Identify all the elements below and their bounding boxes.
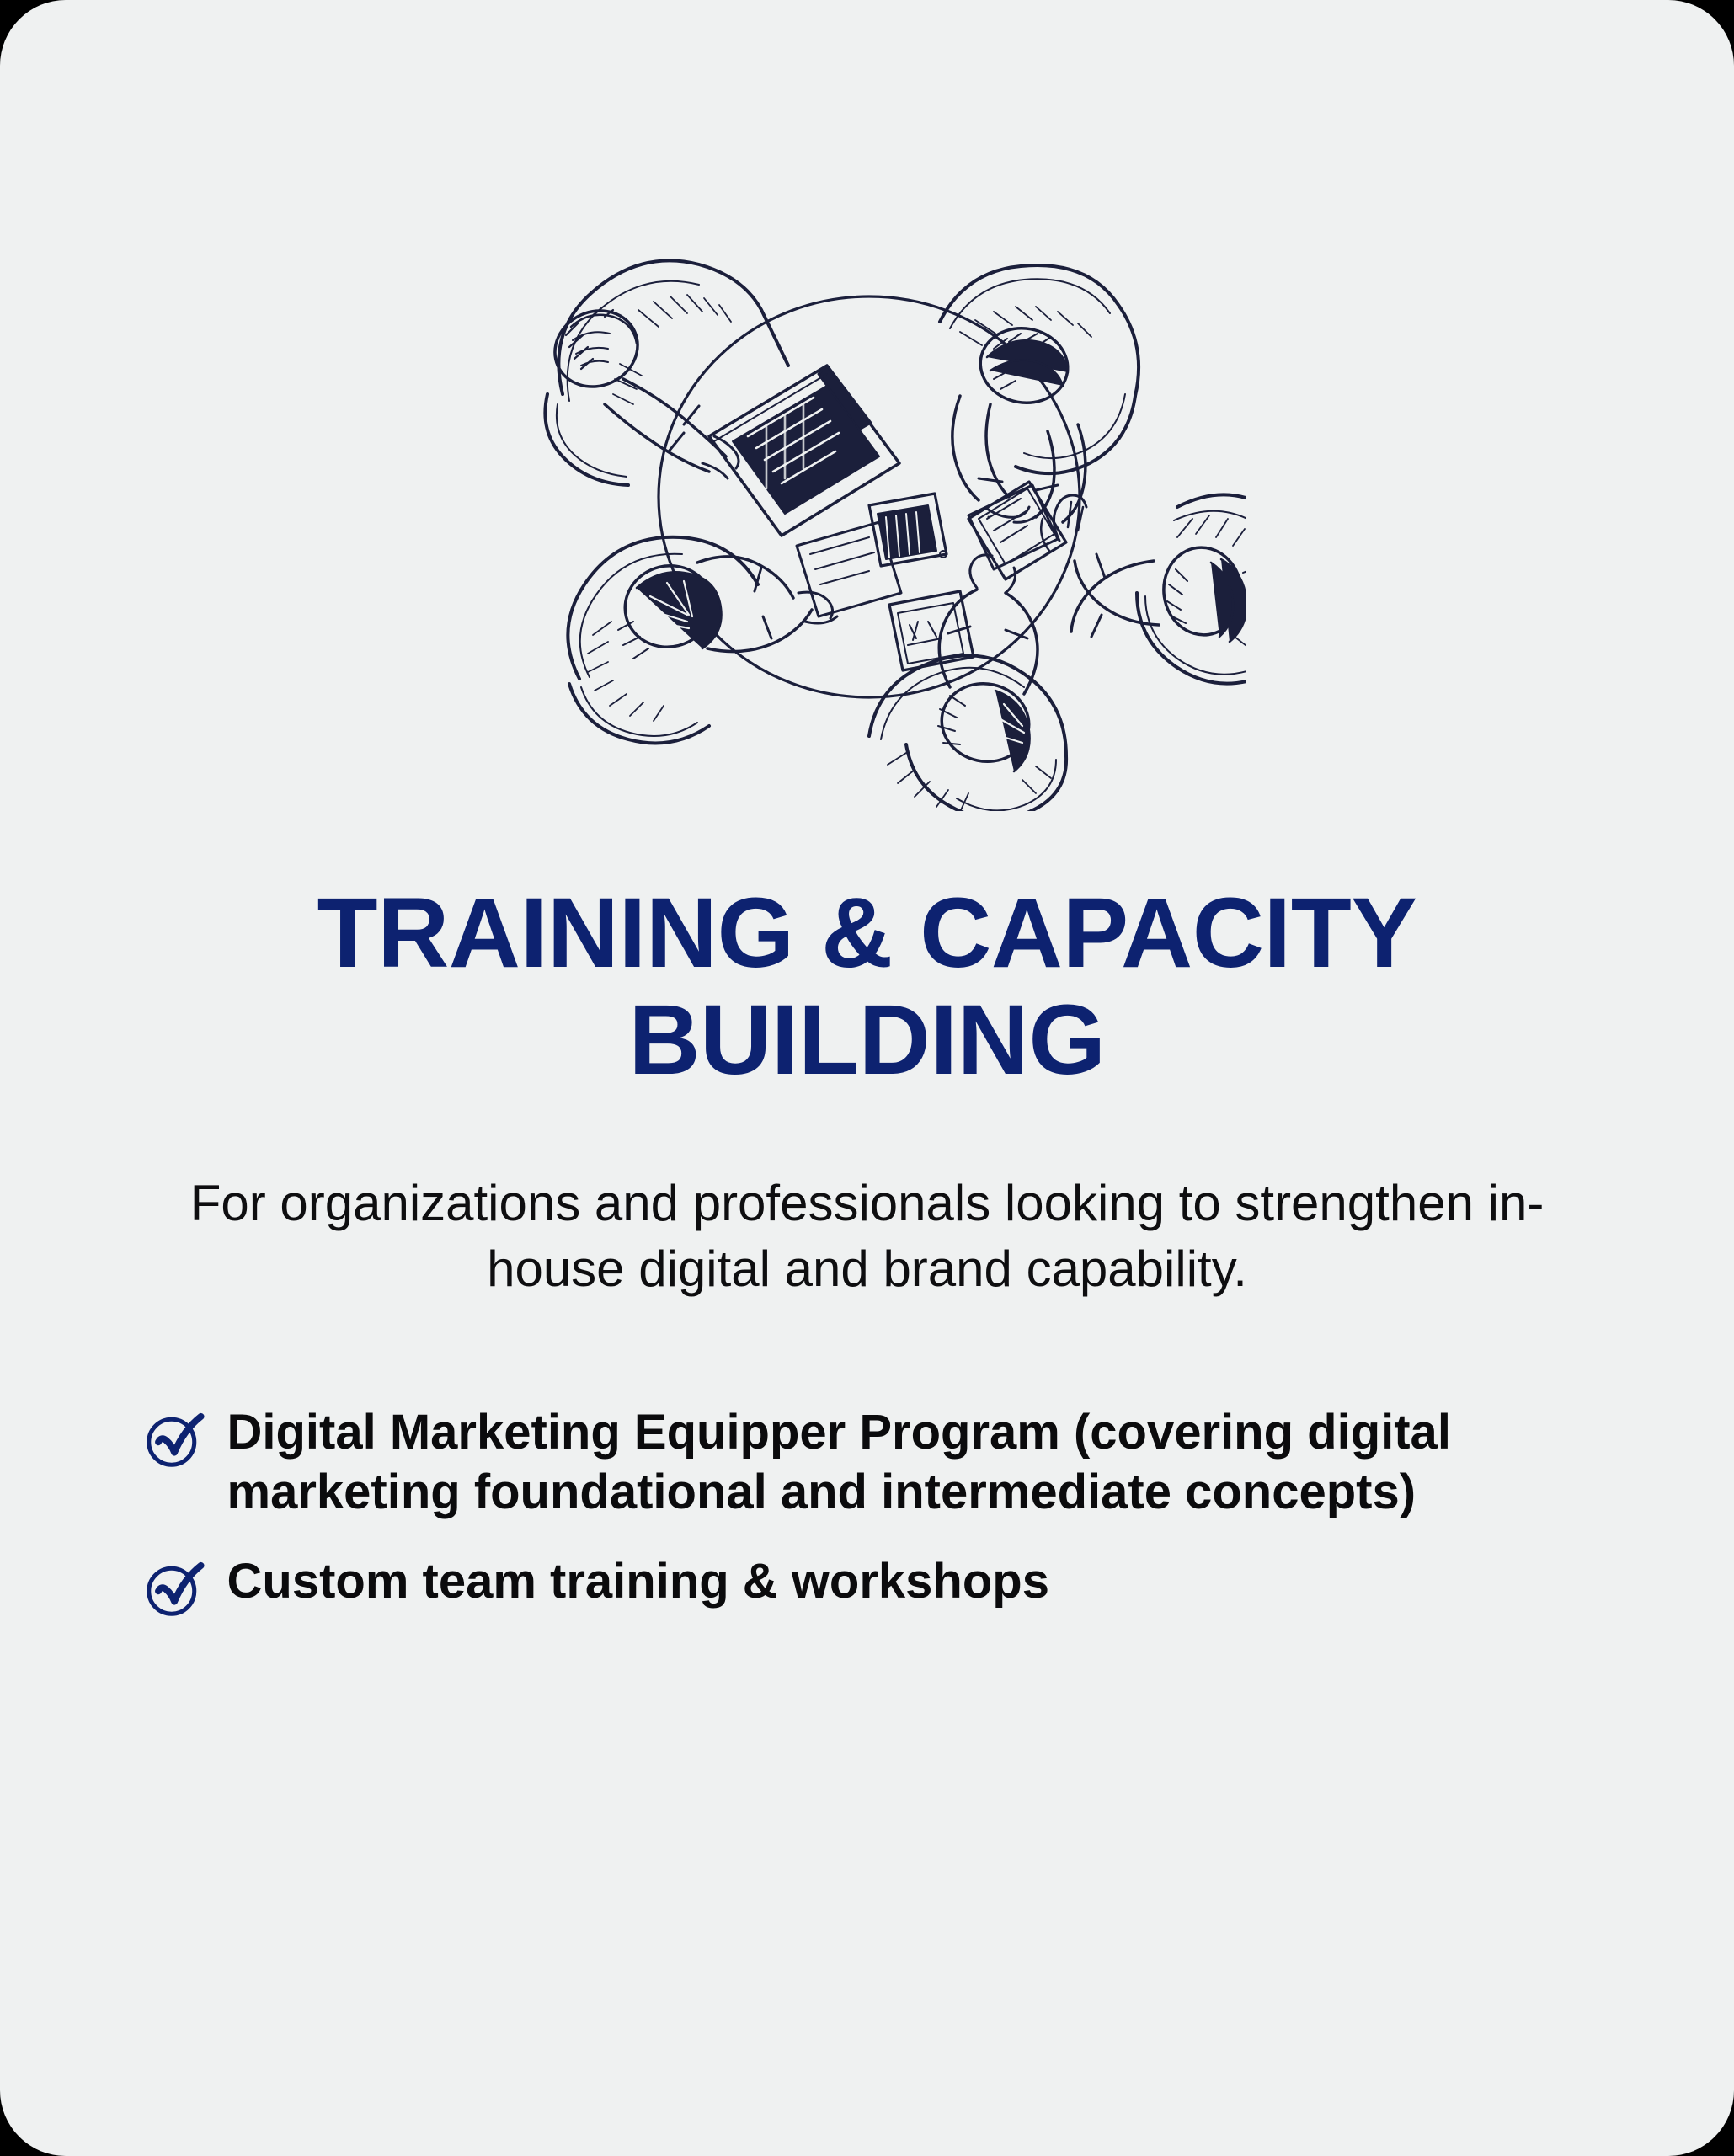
team-collaboration-illustration — [488, 184, 1246, 811]
service-card: TRAINING & CAPACITY BUILDING For organiz… — [0, 0, 1734, 2156]
feature-label: Digital Marketing Equipper Program (cove… — [227, 1403, 1625, 1523]
list-item: Digital Marketing Equipper Program (cove… — [143, 1403, 1625, 1523]
page-title: TRAINING & CAPACITY BUILDING — [168, 880, 1566, 1095]
check-circle-icon — [143, 1559, 204, 1620]
check-circle-icon — [143, 1410, 204, 1470]
feature-list: Digital Marketing Equipper Program (cove… — [109, 1403, 1625, 1620]
card-subtitle: For organizations and professionals look… — [185, 1171, 1550, 1302]
feature-label: Custom team training & workshops — [227, 1552, 1625, 1612]
list-item: Custom team training & workshops — [143, 1552, 1625, 1620]
